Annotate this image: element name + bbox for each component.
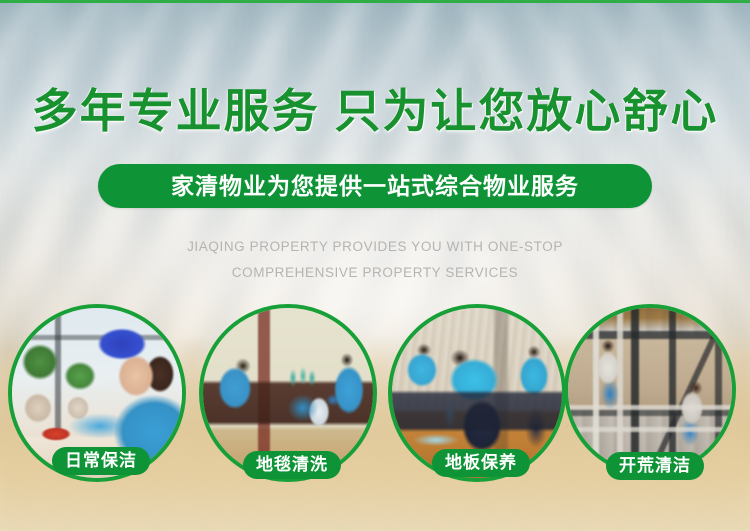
subtitle-pill-label: 家清物业为您提供一站式综合物业服务 [171,164,579,208]
service-item-floor-maintenance[interactable]: 地板保养 [388,304,566,482]
service-label-carpet-cleaning: 地毯清洗 [243,451,341,479]
service-item-carpet-cleaning[interactable]: 地毯清洗 [199,304,377,482]
subtitle-pill: 家清物业为您提供一站式综合物业服务 [98,164,652,208]
service-item-daily-cleaning[interactable]: 日常保洁 [8,304,186,482]
service-item-post-construction-cleaning[interactable]: 开荒清洁 [564,304,742,482]
service-label-daily-cleaning: 日常保洁 [52,447,150,475]
post-construction-cleaning-photo [564,304,736,476]
english-subtitle: JIAQING PROPERTY PROVIDES YOU WITH ONE-S… [0,234,750,286]
top-green-rule [0,0,750,3]
promo-banner: 多年专业服务 只为让您放心舒心 家清物业为您提供一站式综合物业服务 JIAQIN… [0,0,750,531]
service-circle-frame [564,304,736,476]
english-subtitle-line-1: JIAQING PROPERTY PROVIDES YOU WITH ONE-S… [0,234,750,260]
page-title: 多年专业服务 只为让您放心舒心 [0,82,750,140]
service-label-floor-maintenance: 地板保养 [432,449,530,477]
service-circles-row: 日常保洁 地毯清洗 地板保养 开荒清洁 [0,304,750,504]
english-subtitle-line-2: COMPREHENSIVE PROPERTY SERVICES [0,260,750,286]
service-label-post-construction-cleaning: 开荒清洁 [606,452,704,480]
